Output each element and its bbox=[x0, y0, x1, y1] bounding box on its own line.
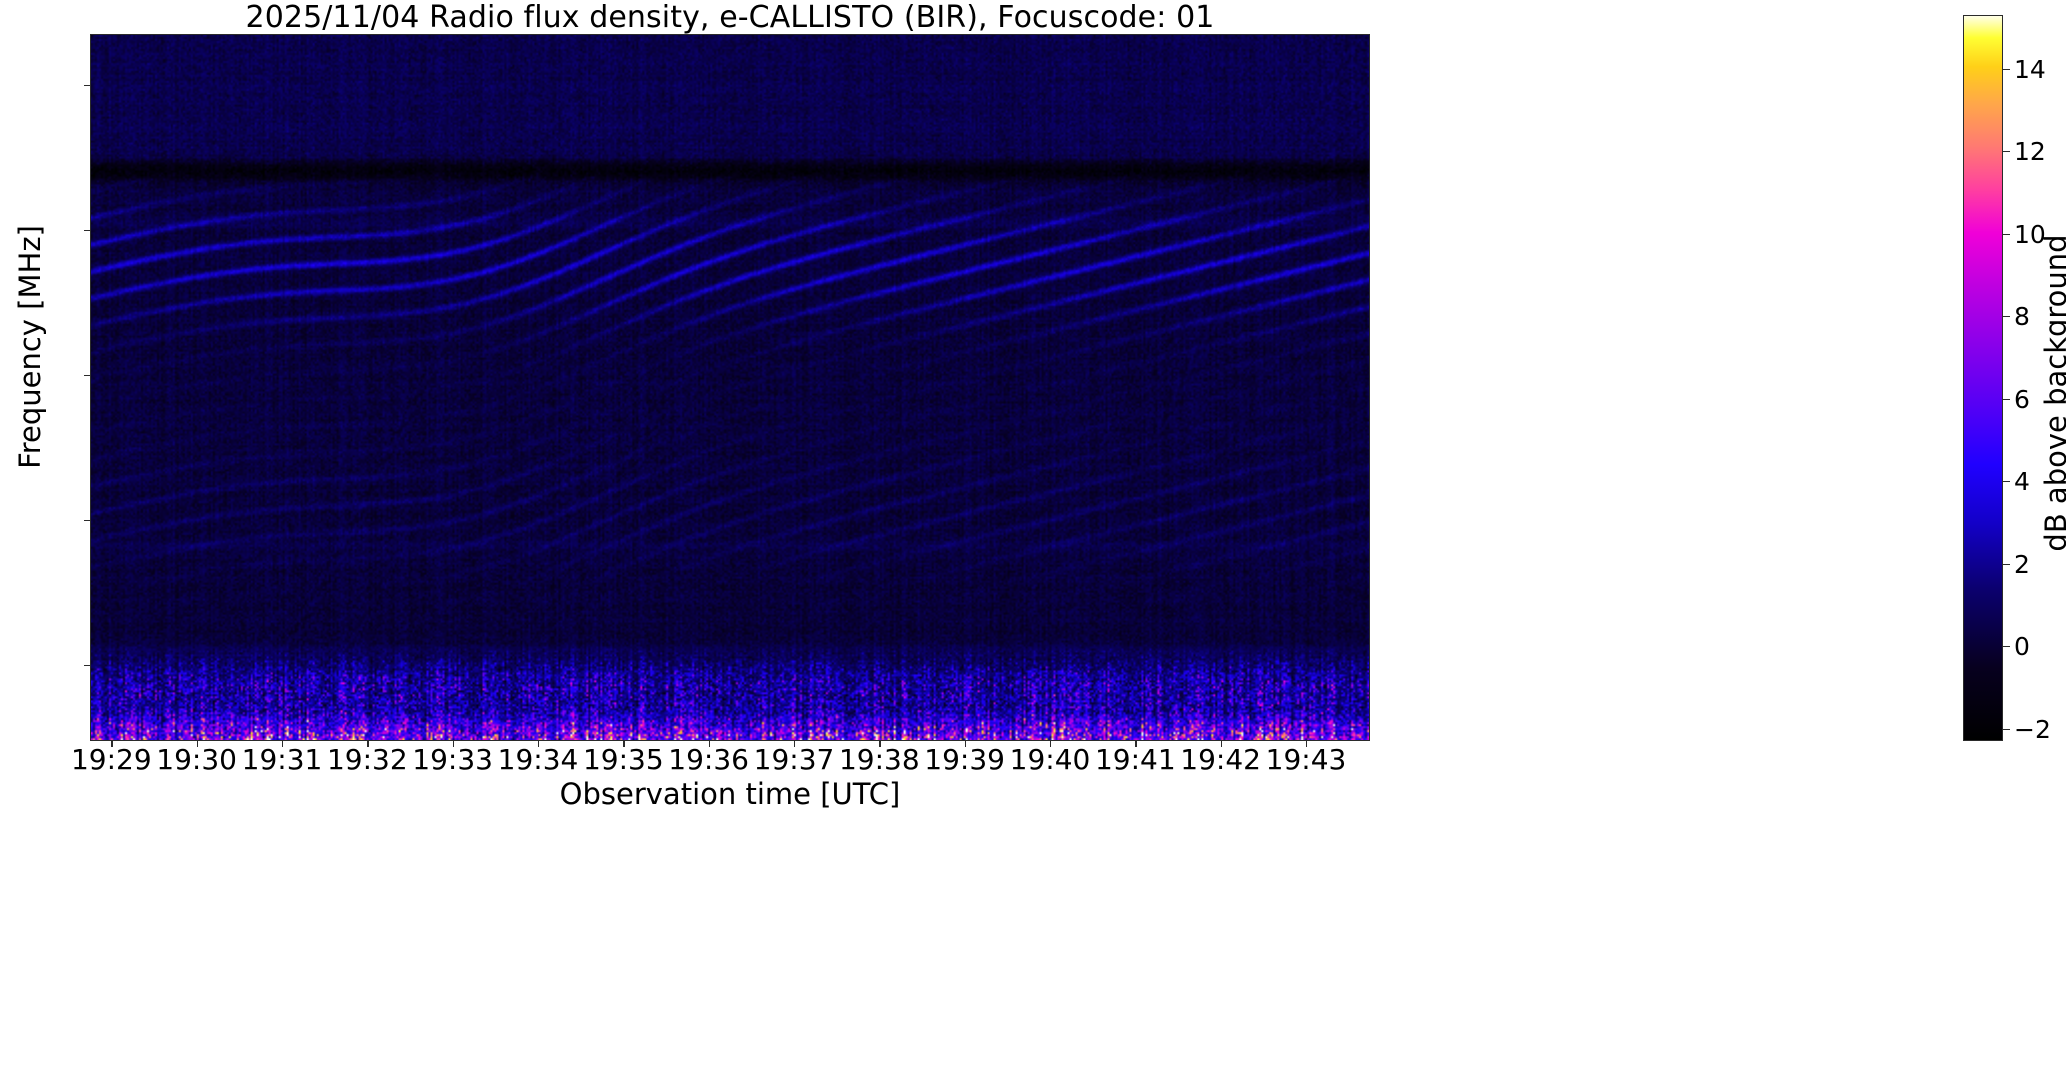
y-axis-tick-mark bbox=[84, 375, 90, 376]
x-axis-tick-label: 19:43 bbox=[1251, 745, 1361, 775]
x-axis-label: Observation time [UTC] bbox=[90, 778, 1370, 810]
x-axis-tick-mark bbox=[1135, 741, 1136, 747]
x-axis-tick-mark bbox=[1306, 741, 1307, 747]
colorbar-tick-mark bbox=[2003, 646, 2010, 647]
y-axis-tick-mark bbox=[84, 665, 90, 666]
x-axis-tick-mark bbox=[794, 741, 795, 747]
x-axis-tick-mark bbox=[453, 741, 454, 747]
colorbar-gradient bbox=[1964, 16, 2002, 740]
colorbar bbox=[1963, 15, 2003, 741]
colorbar-tick-label: 8 bbox=[2014, 304, 2030, 329]
colorbar-tick-mark bbox=[2003, 729, 2010, 730]
y-axis-tick-mark bbox=[84, 85, 90, 86]
colorbar-tick-mark bbox=[2003, 399, 2010, 400]
x-axis-tick-mark bbox=[538, 741, 539, 747]
x-axis-tick-mark bbox=[965, 741, 966, 747]
spectrogram-plot-area bbox=[90, 34, 1370, 741]
y-axis-label: Frequency [MHz] bbox=[15, 112, 45, 582]
colorbar-tick-mark bbox=[2003, 69, 2010, 70]
colorbar-tick-mark bbox=[2003, 316, 2010, 317]
spectrogram-image bbox=[91, 35, 1369, 740]
x-axis-tick-mark bbox=[282, 741, 283, 747]
x-axis-tick-mark bbox=[623, 741, 624, 747]
x-axis-tick-mark bbox=[709, 741, 710, 747]
colorbar-tick-mark bbox=[2003, 234, 2010, 235]
colorbar-tick-mark bbox=[2003, 151, 2010, 152]
colorbar-tick-label: 14 bbox=[2014, 57, 2046, 82]
colorbar-tick-label: 2 bbox=[2014, 552, 2030, 577]
colorbar-tick-label: 4 bbox=[2014, 469, 2030, 494]
y-axis-tick-mark bbox=[84, 520, 90, 521]
figure-canvas: 2025/11/04 Radio flux density, e-CALLIST… bbox=[0, 0, 2066, 1067]
colorbar-label: dB above background bbox=[2041, 173, 2066, 613]
colorbar-tick-mark bbox=[2003, 564, 2010, 565]
colorbar-tick-label: −2 bbox=[2014, 717, 2051, 742]
x-axis-tick-mark bbox=[197, 741, 198, 747]
x-axis-tick-mark bbox=[111, 741, 112, 747]
x-axis-tick-mark bbox=[879, 741, 880, 747]
x-axis-tick-mark bbox=[367, 741, 368, 747]
x-axis-tick-mark bbox=[1050, 741, 1051, 747]
chart-title: 2025/11/04 Radio flux density, e-CALLIST… bbox=[90, 2, 1370, 34]
colorbar-tick-mark bbox=[2003, 481, 2010, 482]
colorbar-tick-label: 0 bbox=[2014, 634, 2030, 659]
colorbar-tick-label: 12 bbox=[2014, 139, 2046, 164]
colorbar-tick-label: 6 bbox=[2014, 387, 2030, 412]
y-axis-tick-mark bbox=[84, 230, 90, 231]
x-axis-tick-mark bbox=[1221, 741, 1222, 747]
